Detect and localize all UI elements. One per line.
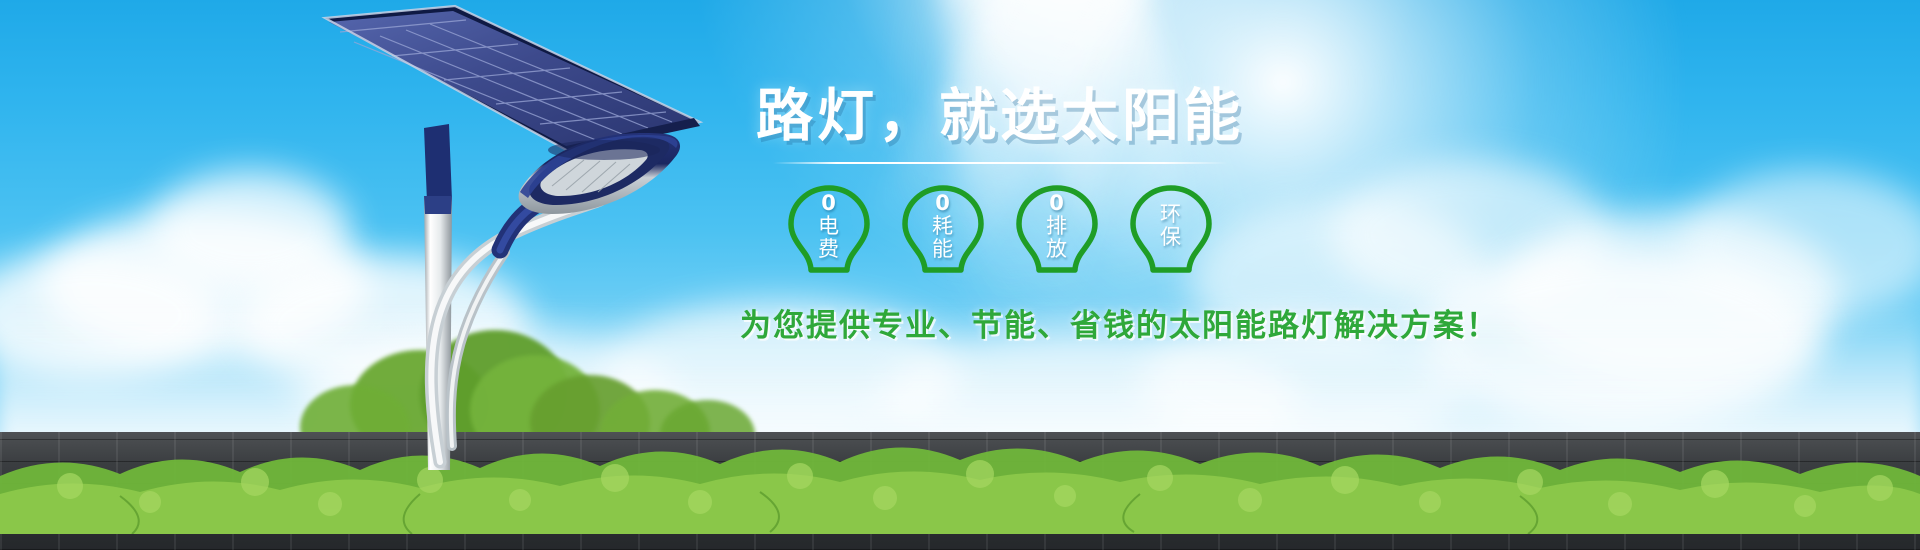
lamp-head xyxy=(519,133,680,214)
badge-dianfei[interactable]: 0 电 费 xyxy=(781,183,877,275)
badge-label-top: 环 xyxy=(1160,202,1182,226)
divider xyxy=(773,162,1228,164)
badge-zero: 0 xyxy=(781,192,877,215)
badge-text: 0 耗 能 xyxy=(895,192,991,261)
solar-panel xyxy=(325,6,700,154)
feature-badges: 0 电 费 0 耗 能 0 xyxy=(740,183,1260,275)
panel-mast xyxy=(424,124,452,202)
badge-haoneng[interactable]: 0 耗 能 xyxy=(895,183,991,275)
badge-label-bottom: 保 xyxy=(1160,225,1182,249)
solar-streetlight-banner: 路灯，就选太阳能 0 电 费 0 耗 能 xyxy=(0,0,1920,550)
badge-label-bottom: 费 xyxy=(818,237,840,261)
badge-paifang[interactable]: 0 排 放 xyxy=(1009,183,1105,275)
badge-zero: 0 xyxy=(1009,192,1105,215)
badge-label-top: 电 xyxy=(818,214,840,238)
banner-copy: 路灯，就选太阳能 0 电 费 0 耗 能 xyxy=(740,88,1260,345)
tagline: 为您提供专业、节能、省钱的太阳能路灯解决方案！ xyxy=(740,300,1260,345)
page-title: 路灯，就选太阳能 xyxy=(740,88,1260,145)
badge-zero: 0 xyxy=(895,192,991,215)
badge-label-bottom: 放 xyxy=(1046,237,1068,261)
badge-label-top: 排 xyxy=(1046,214,1068,238)
badge-text: 0 排 放 xyxy=(1009,192,1105,261)
lamp-arm-outer xyxy=(431,200,600,462)
badge-text: 环 保 xyxy=(1123,203,1219,249)
badge-text: 0 电 费 xyxy=(781,192,877,261)
badge-label-bottom: 能 xyxy=(932,237,954,261)
badge-label-top: 耗 xyxy=(932,214,954,238)
badge-huanbao[interactable]: 环 保 xyxy=(1123,183,1219,275)
